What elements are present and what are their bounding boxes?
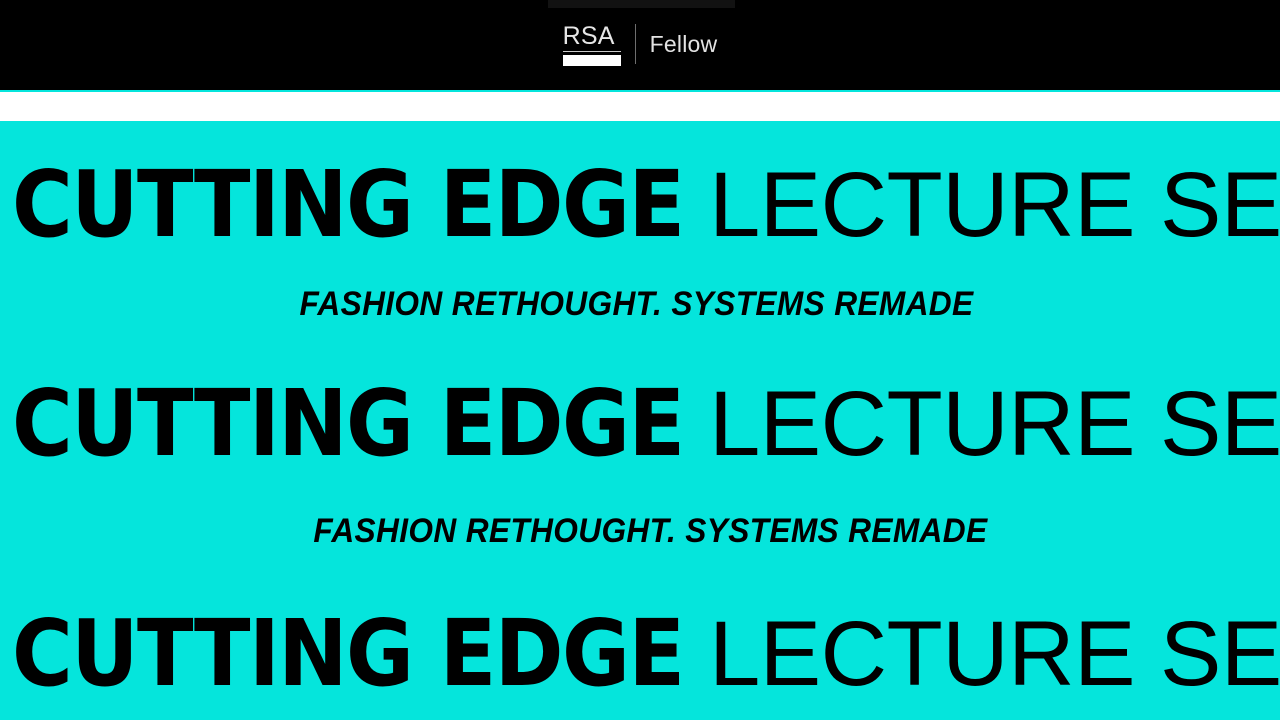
hero-subtitle: FASHION RETHOUGHT. SYSTEMS REMADE	[0, 251, 1190, 321]
rsa-fellow-logo[interactable]: RSA Fellow	[563, 21, 718, 67]
header-spacer	[0, 92, 1280, 121]
hero-marquee-section: CUTTING EDGE LECTURE SERIES FASHION RETH…	[0, 121, 1280, 720]
fellow-label: Fellow	[650, 32, 718, 56]
hero-headline: CUTTING EDGE LECTURE SERIES	[0, 321, 1280, 470]
hero-headline-thin: LECTURE SERIES	[709, 154, 1280, 256]
hero-subtitle: FASHION RETHOUGHT. SYSTEMS REMADE	[0, 700, 1190, 720]
hero-subtitle: FASHION RETHOUGHT. SYSTEMS REMADE	[0, 470, 1190, 548]
hero-headline: CUTTING EDGE LECTURE SERIES	[0, 548, 1280, 700]
logo-divider	[635, 24, 636, 64]
header-overlay-strip	[548, 0, 735, 8]
hero-headline-bold: CUTTING EDGE	[12, 151, 684, 258]
site-header: RSA Fellow	[0, 0, 1280, 90]
hero-headline-thin: LECTURE SERIES	[709, 373, 1280, 475]
rsa-logo-bar-icon	[563, 55, 621, 66]
marquee-block: CUTTING EDGE LECTURE SERIES FASHION RETH…	[0, 548, 1280, 720]
rsa-logo-mark[interactable]: RSA	[563, 23, 621, 66]
rsa-wordmark: RSA	[563, 23, 621, 52]
hero-headline-bold: CUTTING EDGE	[12, 370, 684, 477]
marquee-block: CUTTING EDGE LECTURE SERIES FASHION RETH…	[0, 321, 1280, 548]
hero-headline-thin: LECTURE SERIES	[709, 603, 1280, 705]
hero-headline: CUTTING EDGE LECTURE SERIES	[0, 121, 1280, 251]
hero-headline-bold: CUTTING EDGE	[12, 600, 684, 707]
marquee-block: CUTTING EDGE LECTURE SERIES FASHION RETH…	[0, 121, 1280, 321]
